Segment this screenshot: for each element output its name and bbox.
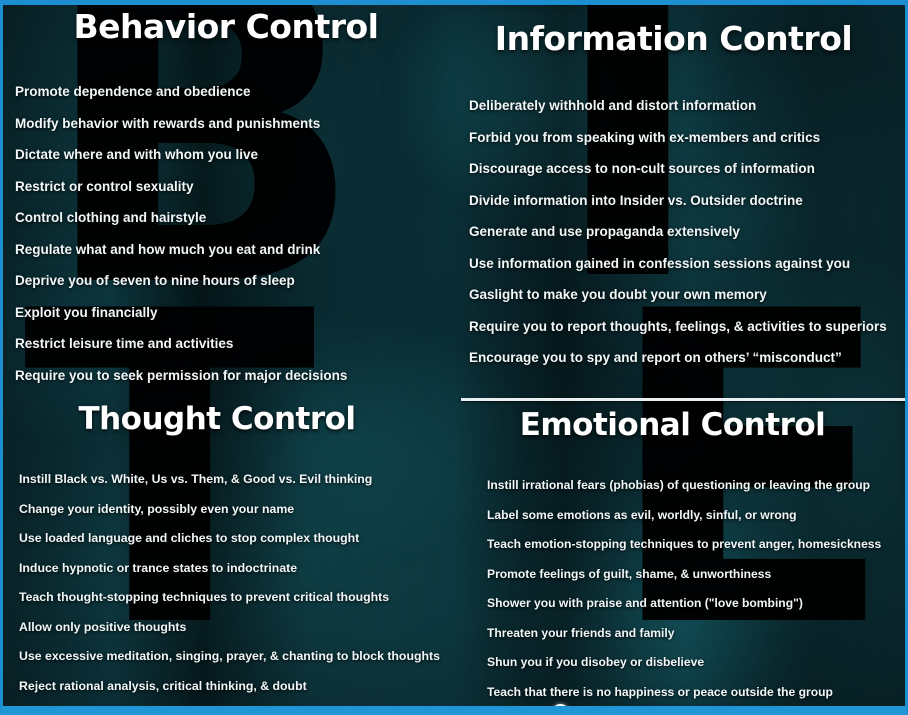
heading-emotional-control: Emotional Control [483,407,902,443]
list-item: Exploit you financially [15,305,455,320]
list-item: Shower you with praise and attention ("l… [487,596,902,610]
list-item: Use information gained in confession ses… [469,256,902,271]
list-item: Deprive you of seven to nine hours of sl… [15,273,455,288]
list-item: Teach thought-stopping techniques to pre… [19,590,455,604]
list-item: Use loaded language and cliches to stop … [19,531,455,545]
quadrant-thought-control: Thought Control Instill Black vs. White,… [3,395,455,714]
list-item: Use excessive meditation, singing, praye… [19,649,455,663]
list-item: Instill Black vs. White, Us vs. Them, & … [19,472,455,486]
quadrant-behavior-control: Behavior Control Promote dependence and … [3,5,455,395]
list-item: Generate and use propaganda extensively [469,224,902,239]
list-item: Gaslight to make you doubt your own memo… [469,287,902,302]
heading-thought-control: Thought Control [15,401,455,437]
list-item: Induce hypnotic or trance states to indo… [19,561,455,575]
list-item: Reject rational analysis, critical think… [19,679,455,693]
list-item: Divide information into Insider vs. Outs… [469,193,902,208]
list-item: Control clothing and hairstyle [15,210,455,225]
list-thought-control: Instill Black vs. White, Us vs. Them, & … [15,472,455,693]
list-item: Encourage you to spy and report on other… [469,350,902,365]
list-item: Teach emotion-stopping techniques to pre… [487,537,902,551]
list-item: Forbid you from speaking with ex-members… [469,130,902,145]
list-information-control: Deliberately withhold and distort inform… [463,98,902,365]
list-behavior-control: Promote dependence and obedience Modify … [15,84,455,383]
list-item: Promote feelings of guilt, shame, & unwo… [487,567,902,581]
list-item: Discourage access to non-cult sources of… [469,161,902,176]
list-item: Require you to seek permission for major… [15,368,455,383]
list-item: Promote dependence and obedience [15,84,455,99]
quadrant-grid: Behavior Control Promote dependence and … [3,5,905,706]
heading-behavior-control: Behavior Control [15,7,455,46]
list-item: Shun you if you disobey or disbelieve [487,655,902,669]
list-item: Restrict leisure time and activities [15,336,455,351]
quadrant-information-control: Information Control Deliberately withhol… [455,5,902,395]
list-item: Allow only positive thoughts [19,620,455,634]
list-item: Dictate where and with whom you live [15,147,455,162]
list-item: Restrict or control sexuality [15,179,455,194]
list-item: Teach that there is no happiness or peac… [487,685,902,699]
list-item: Deliberately withhold and distort inform… [469,98,902,113]
list-emotional-control: Instill irrational fears (phobias) of qu… [483,478,902,699]
quadrant-emotional-control: Emotional Control Instill irrational fea… [455,395,902,714]
emotional-control-divider [461,398,908,401]
list-item: Change your identity, possibly even your… [19,502,455,516]
list-item: Modify behavior with rewards and punishm… [15,116,455,131]
list-item: Instill irrational fears (phobias) of qu… [487,478,902,492]
heading-information-control: Information Control [463,19,902,58]
list-item: Label some emotions as evil, worldly, si… [487,508,902,522]
list-item: Require you to report thoughts, feelings… [469,319,902,334]
presentation-slide: B I T E Behavior Control Promote depende… [0,0,908,715]
list-item: Regulate what and how much you eat and d… [15,242,455,257]
list-item: Threaten your friends and family [487,626,902,640]
cursor-dot[interactable] [552,704,569,715]
